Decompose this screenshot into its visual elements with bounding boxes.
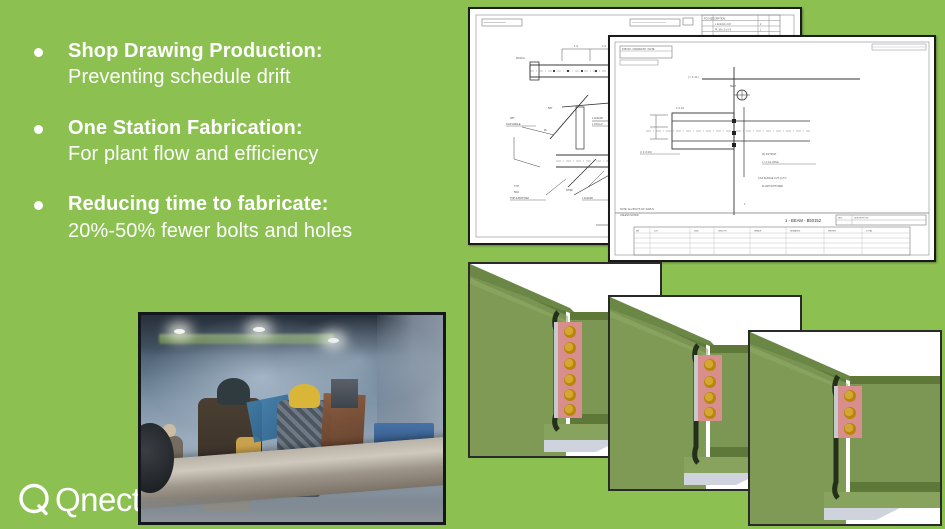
photo-content [141, 315, 443, 522]
svg-text:NOTE: ALL BOLTS 3/4" A325-N: NOTE: ALL BOLTS 3/4" A325-N [620, 208, 654, 211]
svg-text:[ = 1'-11 ]: [ = 1'-11 ] [688, 75, 699, 79]
svg-text:TOP & BOTTOM: TOP & BOTTOM [510, 197, 529, 200]
svg-text:REV: REV [838, 218, 843, 220]
bullet-item-one-station-fabrication: One Station Fabrication: For plant flow … [0, 115, 450, 169]
beam-connection-3d-3 [750, 332, 940, 524]
drawing-title-block-text: 1 - BEAM - B50152 [785, 218, 822, 223]
svg-text:JOB NO. / DRAWN BY / DATE: JOB NO. / DRAWN BY / DATE [622, 48, 655, 51]
shop-drawing-2[interactable]: JOB NO. / DRAWN BY / DATE [ = 1'-11 ] SE… [608, 35, 936, 262]
svg-text:1'-0 1/4: 1'-0 1/4 [676, 107, 685, 110]
bullet-title: Reducing time to fabricate: [68, 191, 450, 217]
svg-text:1'-0: 1'-0 [602, 45, 607, 48]
svg-text:LENGTH: LENGTH [718, 231, 727, 233]
bullet-subtitle: 20%-50% fewer bolts and holes [68, 218, 450, 245]
svg-text:SIZE: SIZE [694, 231, 699, 233]
svg-text:TYP: TYP [514, 185, 519, 188]
svg-text:(6) 3/4" BOLT: (6) 3/4" BOLT [762, 153, 777, 156]
svg-text:5/16: 5/16 [514, 191, 519, 194]
bullet-title: One Station Fabrication: [68, 115, 450, 141]
svg-text:FLUSH WITH WEB: FLUSH WITH WEB [762, 185, 783, 188]
svg-text:L3x3 FLANGE CUT (2) TO: L3x3 FLANGE CUT (2) TO [758, 177, 787, 180]
beam-connection-render-3[interactable] [748, 330, 942, 526]
svg-text:3/8": 3/8" [510, 117, 514, 120]
bullet-dot-icon [34, 201, 43, 210]
bullet-dot-icon [34, 125, 43, 134]
qnect-logo: Qnect [18, 481, 141, 517]
svg-text:L 4x4x3/8: L 4x4x3/8 [582, 197, 593, 200]
svg-text:W16x31: W16x31 [516, 57, 525, 60]
svg-text:REMARKS: REMARKS [790, 230, 801, 233]
bullet-title: Shop Drawing Production: [68, 38, 450, 64]
svg-text:CLIP ANGLE: CLIP ANGLE [506, 123, 521, 126]
svg-text:QTY: QTY [654, 231, 659, 233]
svg-text:UNLESS NOTED: UNLESS NOTED [620, 214, 639, 217]
svg-text:L 4x4x1/4 x 0-8: L 4x4x1/4 x 0-8 [715, 24, 731, 26]
fixture-block [331, 379, 358, 408]
logo-wordmark: Qnect [55, 483, 141, 516]
svg-text:L 4x4x3/8: L 4x4x3/8 [592, 117, 603, 120]
svg-text:DESCRIPTION: DESCRIPTION [854, 218, 869, 220]
svg-text:SECT: SECT [730, 86, 737, 88]
bullet-list: Shop Drawing Production: Preventing sche… [0, 38, 450, 268]
svg-text:STIFF: STIFF [566, 189, 573, 192]
svg-text:x 0-8 LLV: x 0-8 LLV [592, 123, 603, 126]
svg-text:PCS DESCRIPTION: PCS DESCRIPTION [704, 18, 725, 20]
bolt-group [844, 390, 856, 435]
bullet-subtitle: For plant flow and efficiency [68, 141, 450, 168]
svg-text:(= 1'-0 3/4): (= 1'-0 3/4) [640, 151, 652, 154]
svg-text:PL 3/8 x 5 x 0-9: PL 3/8 x 5 x 0-9 [715, 29, 732, 31]
q-ring-icon [18, 481, 52, 517]
bullet-item-shop-drawing-production: Shop Drawing Production: Preventing sche… [0, 38, 450, 92]
svg-text:GRADE: GRADE [754, 230, 762, 233]
bullet-dot-icon [34, 48, 43, 57]
shop-drawing-2-linework: JOB NO. / DRAWN BY / DATE [ = 1'-11 ] SE… [610, 37, 934, 260]
svg-text:L = 4 1/2 LONG: L = 4 1/2 LONG [762, 161, 779, 164]
svg-text:WEIGHT: WEIGHT [828, 231, 837, 233]
slide-canvas: Shop Drawing Production: Preventing sche… [0, 0, 945, 529]
steel-fabrication-shop-photo[interactable] [138, 312, 446, 525]
bullet-item-reducing-time-to-fabricate: Reducing time to fabricate: 20%-50% fewe… [0, 191, 450, 245]
svg-text:5/8": 5/8" [548, 107, 552, 110]
bullet-subtitle: Preventing schedule drift [68, 64, 450, 91]
svg-text:1'-0: 1'-0 [574, 45, 579, 48]
svg-text:TOTAL: TOTAL [866, 230, 873, 233]
